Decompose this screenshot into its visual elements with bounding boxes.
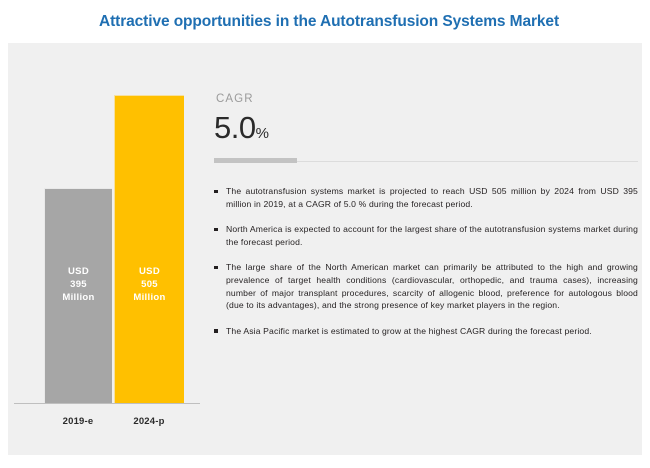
bullet-square-icon — [214, 266, 218, 270]
bullet-square-icon — [214, 190, 218, 194]
bar-2024-p-label: USD 505 Million — [115, 265, 184, 304]
cagr-value: 5.0% — [214, 108, 269, 154]
axis-label-2024-p: 2024-p — [114, 416, 184, 427]
bar-2019-e-label-line2: 395 — [45, 278, 112, 291]
page-header: Attractive opportunities in the Autotran… — [0, 0, 650, 43]
infographic-page: Attractive opportunities in the Autotran… — [0, 0, 650, 468]
bar-2019-e-label: USD 395 Million — [45, 265, 112, 304]
bar-2019-e: USD 395 Million — [44, 188, 112, 403]
bar-2024-p-label-line1: USD — [115, 265, 184, 278]
bullet-square-icon — [214, 329, 218, 333]
cagr-number: 5.0 — [214, 110, 256, 145]
cagr-label: CAGR — [216, 93, 254, 105]
list-item: The large share of the North American ma… — [208, 261, 638, 311]
facts-panel: CAGR 5.0% The autotransfusion systems ma… — [200, 43, 642, 455]
bar-2024-p-label-line2: 505 — [115, 278, 184, 291]
section-divider-accent — [214, 158, 297, 163]
bullet-square-icon — [214, 228, 218, 232]
list-item-text: The large share of the North American ma… — [226, 262, 638, 310]
list-item: The Asia Pacific market is estimated to … — [208, 325, 638, 338]
bar-2024-p: USD 505 Million — [114, 95, 184, 403]
page-title: Attractive opportunities in the Autotran… — [91, 13, 559, 31]
list-item-text: North America is expected to account for… — [226, 224, 638, 247]
list-item: North America is expected to account for… — [208, 223, 638, 248]
list-item-text: The autotransfusion systems market is pr… — [226, 186, 638, 209]
axis-label-2019-e: 2019-e — [44, 416, 112, 427]
list-item: The autotransfusion systems market is pr… — [208, 185, 638, 210]
content-panel: USD 395 Million USD 505 Million 2019-e 2… — [8, 43, 642, 455]
bar-2019-e-label-line3: Million — [45, 291, 112, 304]
market-size-bar-chart: USD 395 Million USD 505 Million 2019-e 2… — [8, 43, 200, 455]
chart-axis-line — [14, 403, 200, 404]
list-item-text: The Asia Pacific market is estimated to … — [226, 326, 592, 336]
cagr-percent-symbol: % — [256, 125, 269, 142]
bar-2019-e-label-line1: USD — [45, 265, 112, 278]
highlights-list: The autotransfusion systems market is pr… — [208, 185, 638, 337]
bar-2024-p-label-line3: Million — [115, 291, 184, 304]
